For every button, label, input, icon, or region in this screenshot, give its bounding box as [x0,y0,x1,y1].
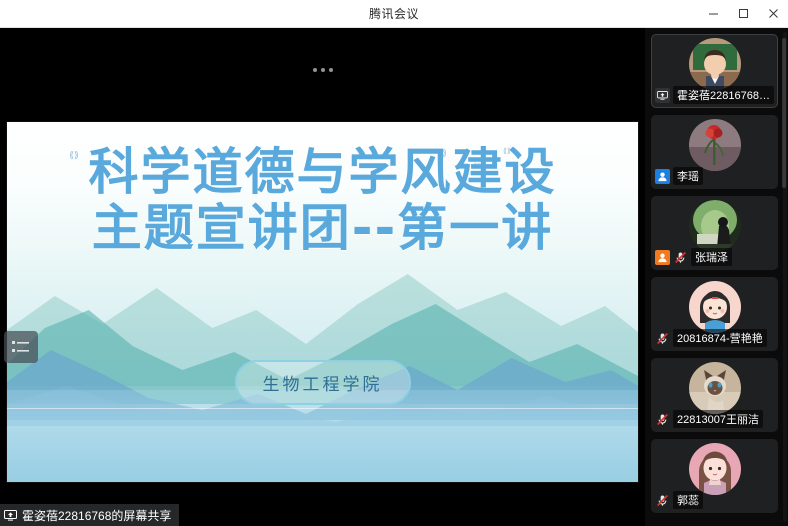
minimize-button[interactable] [698,0,728,27]
share-status-text: 霍姿蓓22816768的屏幕共享 [22,507,171,524]
mic-muted-icon [655,493,670,508]
participant-tile[interactable]: 郭蕊 [651,439,778,513]
title-bar: 腾讯会议 [0,0,788,28]
participant-name: 22813007王丽洁 [673,410,763,428]
participant-list-scrollbar[interactable] [783,32,787,522]
presentation-slide: ⟪⟫ ⟪⟫ ⟪⟫ ⟪⟫ ⟪⟫ [6,121,639,483]
slide-subtitle-pill: 生物工程学院 [235,360,411,405]
share-status-bar: 霍姿蓓22816768的屏幕共享 [0,504,179,526]
tile-label: 霍姿蓓22816768的屏幕... [655,86,774,104]
avatar [689,443,741,495]
screen-share-icon [655,88,670,103]
mic-muted-icon [655,331,670,346]
maximize-button[interactable] [728,0,758,27]
list-icon [12,340,30,354]
participant-tile[interactable]: 李瑶 [651,115,778,189]
siamese-cat-photo-avatar [689,362,741,414]
cartoon-woman-pink-illustration-avatar [689,443,741,495]
cartoon-girl-illustration-avatar [689,281,741,333]
slide-title: 科学道德与学风建设 主题宣讲团--第一讲 [7,144,638,256]
tile-label: 22813007王丽洁 [655,410,763,428]
close-button[interactable] [758,0,788,27]
participant-name: 20816874-营艳艳 [673,329,767,347]
person-outdoors-photo-avatar [689,200,741,252]
participant-name: 李瑶 [673,167,703,185]
host-user-icon [655,250,670,265]
slide-title-line-1: 科学道德与学风建设 [7,144,638,200]
participant-tile[interactable]: 20816874-营艳艳 [651,277,778,351]
avatar [689,200,741,252]
participant-name: 郭蕊 [673,491,703,509]
participant-panel[interactable]: 霍姿蓓22816768的屏幕... [645,28,788,526]
window-controls [698,0,788,27]
scrollbar-thumb[interactable] [782,38,786,188]
mic-muted-icon [673,250,688,265]
window-title: 腾讯会议 [0,5,788,22]
window-body: ⟪⟫ ⟪⟫ ⟪⟫ ⟪⟫ ⟪⟫ [0,28,788,526]
avatar [689,362,741,414]
participant-tile[interactable]: 22813007王丽洁 [651,358,778,432]
shared-screen-stage: ⟪⟫ ⟪⟫ ⟪⟫ ⟪⟫ ⟪⟫ [0,28,645,526]
tencent-meeting-window: 腾讯会议 ⟪⟫ ⟪⟫ ⟪⟫ ⟪⟫ ⟪⟫ [0,0,788,526]
screen-share-icon [4,510,17,521]
mic-muted-icon [655,412,670,427]
tile-label: 20816874-营艳艳 [655,329,767,347]
tile-label: 李瑶 [655,167,703,185]
avatar [689,38,741,90]
red-carnation-flower-photo-avatar [689,119,741,171]
avatar [689,281,741,333]
participant-tile[interactable]: 霍姿蓓22816768的屏幕... [651,34,778,108]
slide-list-button[interactable] [4,331,38,363]
slide-title-line-2: 主题宣讲团--第一讲 [7,200,638,256]
user-icon [655,169,670,184]
woman-graduation-photo-avatar [689,38,741,90]
participant-name: 张瑞泽 [691,248,732,266]
tile-label: 郭蕊 [655,491,703,509]
avatar [689,119,741,171]
collapsed-toolbar-dots-icon[interactable] [307,64,339,76]
participant-name: 霍姿蓓22816768的屏幕... [673,86,774,104]
tile-label: 张瑞泽 [655,248,732,266]
participant-tile[interactable]: 张瑞泽 [651,196,778,270]
